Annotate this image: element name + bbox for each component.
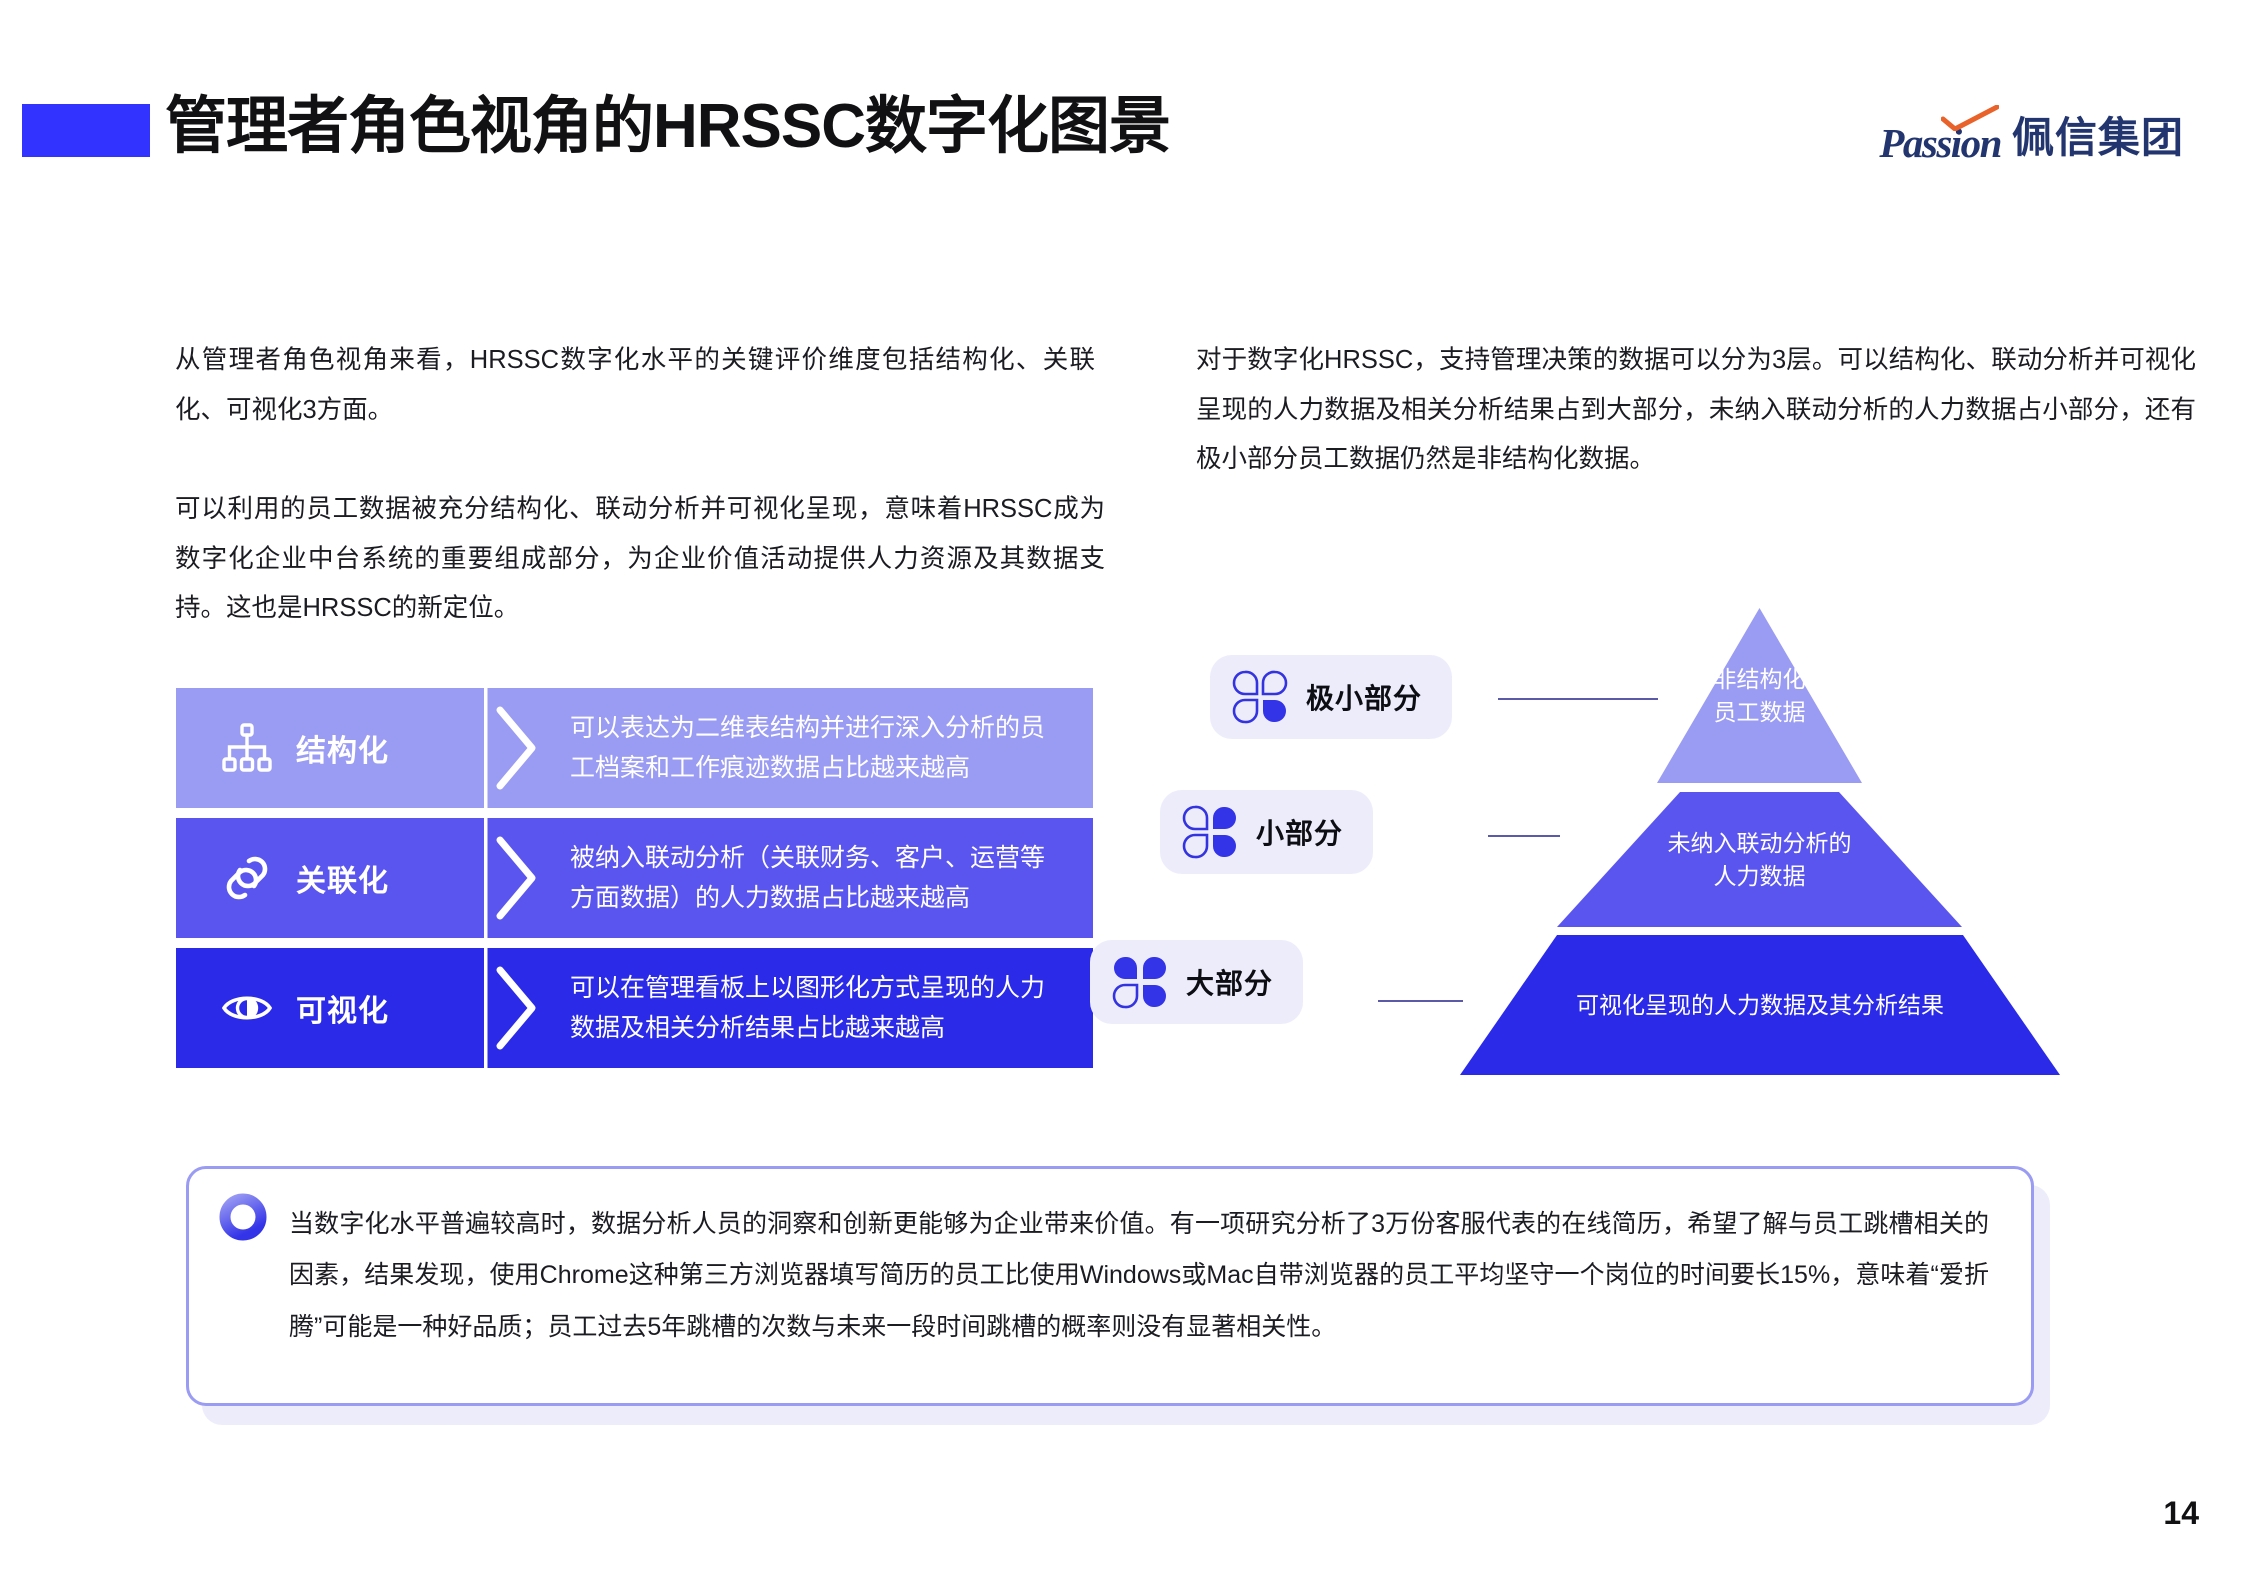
dimension-desc-cell: 可以在管理看板上以图形化方式呈现的人力数据及相关分析结果占比越来越高 xyxy=(484,948,1093,1068)
pyramid-badge-top[interactable]: 极小部分 xyxy=(1210,655,1452,739)
insight-callout: 当数字化水平普遍较高时，数据分析人员的洞察和创新更能够为企业带来价值。有一项研究… xyxy=(186,1166,2034,1406)
dimension-row-visualized: 可视化 可以在管理看板上以图形化方式呈现的人力数据及相关分析结果占比越来越高 xyxy=(176,948,1093,1068)
pyramid-badge-middle[interactable]: 小部分 xyxy=(1160,790,1373,874)
pyramid-tier-middle-line1: 未纳入联动分析的 xyxy=(1668,827,1852,860)
dimension-desc-cell: 被纳入联动分析（关联财务、客户、运营等方面数据）的人力数据占比越来越高 xyxy=(484,818,1093,938)
pyramid-tier-middle-text: 未纳入联动分析的 人力数据 xyxy=(1668,827,1852,892)
connector-line-bottom xyxy=(1378,1000,1463,1002)
dimension-label: 关联化 xyxy=(296,856,389,900)
logo-chinese-text: 佩信集团 xyxy=(2012,117,2184,159)
pyramid-badge-middle-label: 小部分 xyxy=(1256,812,1343,852)
ring-dot-icon xyxy=(219,1193,267,1241)
pyramid-tier-top-line2: 员工数据 xyxy=(1714,696,1806,729)
dimension-desc-cell: 可以表达为二维表结构并进行深入分析的员工档案和工作痕迹数据占比越来越高 xyxy=(484,688,1093,808)
dimension-label-cell: 关联化 xyxy=(176,818,484,938)
pyramid-tier-base-text: 可视化呈现的人力数据及其分析结果 xyxy=(1576,989,1944,1022)
page-title: 管理者角色视角的HRSSC数字化图景 xyxy=(165,75,1170,165)
link-chain-icon xyxy=(222,853,272,903)
intro-paragraph-left-1: 从管理者角色视角来看，HRSSC数字化水平的关键评价维度包括结构化、关联化、可视… xyxy=(175,336,1095,435)
logo-check-icon xyxy=(1941,105,1999,131)
intro-paragraph-right-1: 对于数字化HRSSC，支持管理决策的数据可以分为3层。可以结构化、联动分析并可视… xyxy=(1196,336,2196,485)
dimension-table: 结构化 可以表达为二维表结构并进行深入分析的员工档案和工作痕迹数据占比越来越高 … xyxy=(176,688,1093,1068)
slide-root: 管理者角色视角的HRSSC数字化图景 Passion 佩信集团 从管理者角色视角… xyxy=(0,0,2244,1587)
intro-paragraph-left-2: 可以利用的员工数据被充分结构化、联动分析并可视化呈现，意味着HRSSC成为数字化… xyxy=(175,485,1105,634)
pyramid-tier-base-line1: 可视化呈现的人力数据及其分析结果 xyxy=(1576,989,1944,1022)
dimension-row-structured: 结构化 可以表达为二维表结构并进行深入分析的员工档案和工作痕迹数据占比越来越高 xyxy=(176,688,1093,808)
clover-one-quarter-icon xyxy=(1232,669,1288,725)
dimension-label-cell: 结构化 xyxy=(176,688,484,808)
pyramid-badge-top-label: 极小部分 xyxy=(1306,677,1422,717)
dimension-row-linked: 关联化 被纳入联动分析（关联财务、客户、运营等方面数据）的人力数据占比越来越高 xyxy=(176,818,1093,938)
title-accent-bar xyxy=(22,104,150,157)
pyramid-tier-base: 可视化呈现的人力数据及其分析结果 xyxy=(1460,935,2060,1075)
pyramid-tier-top: 非结构化 员工数据 xyxy=(1657,608,1862,783)
pyramid-badge-base[interactable]: 大部分 xyxy=(1090,940,1303,1024)
dimension-label: 结构化 xyxy=(296,726,389,770)
dimension-description: 可以表达为二维表结构并进行深入分析的员工档案和工作痕迹数据占比越来越高 xyxy=(570,708,1065,789)
page-number: 14 xyxy=(2163,1495,2199,1532)
dimension-label: 可视化 xyxy=(296,986,389,1030)
eye-pie-icon xyxy=(222,983,272,1033)
dimension-description: 可以在管理看板上以图形化方式呈现的人力数据及相关分析结果占比越来越高 xyxy=(570,968,1065,1049)
connector-line-middle xyxy=(1488,835,1560,837)
clover-half-icon xyxy=(1182,804,1238,860)
callout-body-text: 当数字化水平普遍较高时，数据分析人员的洞察和创新更能够为企业带来价值。有一项研究… xyxy=(289,1199,1989,1353)
company-logo: Passion 佩信集团 xyxy=(1879,112,2184,164)
pyramid-tier-middle-line2: 人力数据 xyxy=(1668,860,1852,893)
data-pyramid-diagram: 非结构化 员工数据 未纳入联动分析的 人力数据 可视化呈现的人力数据及其分析结果 xyxy=(1230,580,2150,1080)
pyramid-tier-top-line1: 非结构化 xyxy=(1714,663,1806,696)
pyramid-tier-middle: 未纳入联动分析的 人力数据 xyxy=(1557,792,1962,927)
clover-three-quarter-icon xyxy=(1112,954,1168,1010)
dimension-description: 被纳入联动分析（关联财务、客户、运营等方面数据）的人力数据占比越来越高 xyxy=(570,838,1065,919)
org-chart-icon xyxy=(222,723,272,773)
connector-line-top xyxy=(1498,698,1658,700)
logo-latin-mark: Passion xyxy=(1879,112,2001,164)
dimension-label-cell: 可视化 xyxy=(176,948,484,1068)
pyramid-tier-top-text: 非结构化 员工数据 xyxy=(1714,663,1806,728)
pyramid-badge-base-label: 大部分 xyxy=(1186,962,1273,1002)
